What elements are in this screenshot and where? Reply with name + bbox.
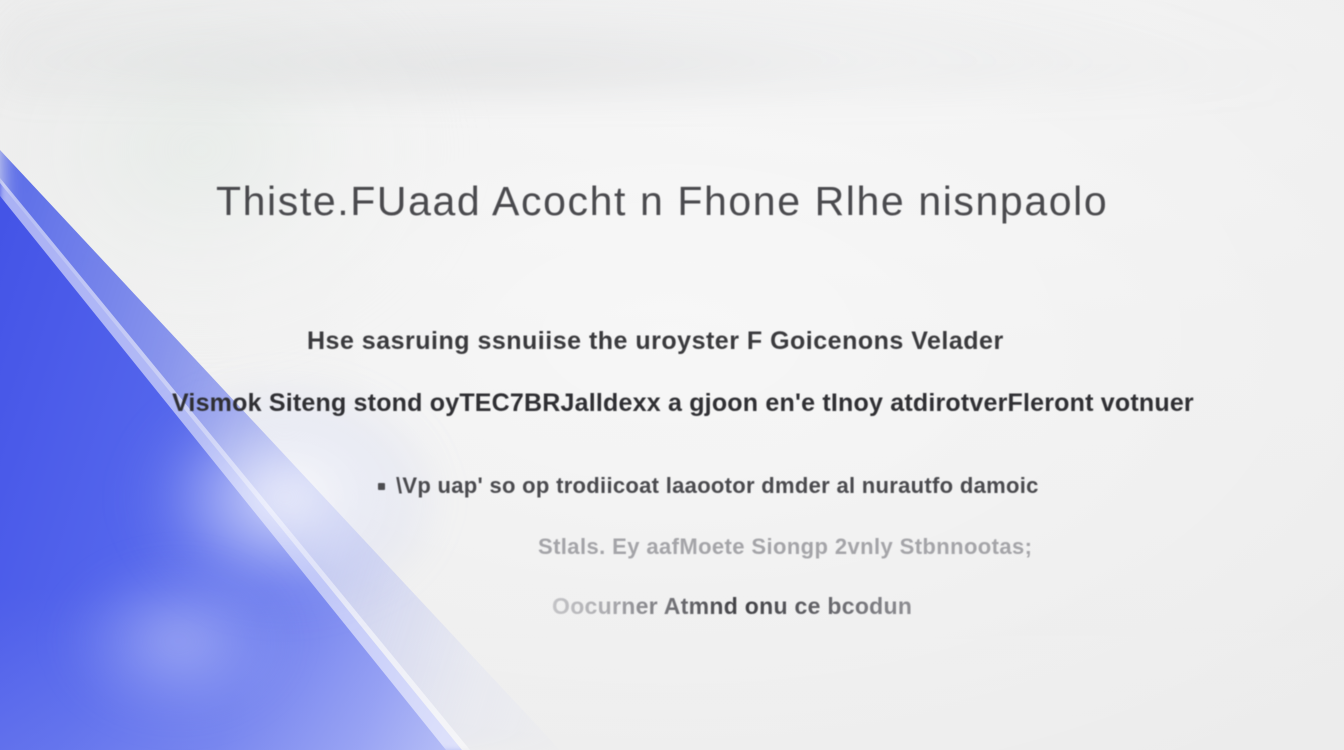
body-line-3-label: \Vp uap' so op trodiicoat laaootor dmder… (396, 473, 1039, 499)
blue-diagonal-wedge (0, 0, 640, 750)
slide-canvas: Thiste.FUaad Acocht n Fhone Rlhe nisnpao… (0, 0, 1344, 750)
body-line-3-bulleted: \Vp uap' so op trodiicoat laaootor dmder… (378, 473, 1039, 499)
square-bullet-icon (378, 483, 385, 490)
body-line-5: Oocurner Atmnd onu ce bcodun (552, 593, 912, 620)
body-line-4: Stlals. Ey aafMoete Siongp 2vnly Stbnnoo… (538, 534, 1032, 560)
slide-title: Thiste.FUaad Acocht n Fhone Rlhe nisnpao… (216, 178, 1216, 225)
wedge-shape (0, 0, 640, 750)
body-line-2: Vismok Siteng stond oyTEC7BRJalldexx a g… (172, 389, 1194, 418)
body-line-1: Hse sasruing ssnuiise the uroyster F Goi… (307, 327, 1004, 356)
